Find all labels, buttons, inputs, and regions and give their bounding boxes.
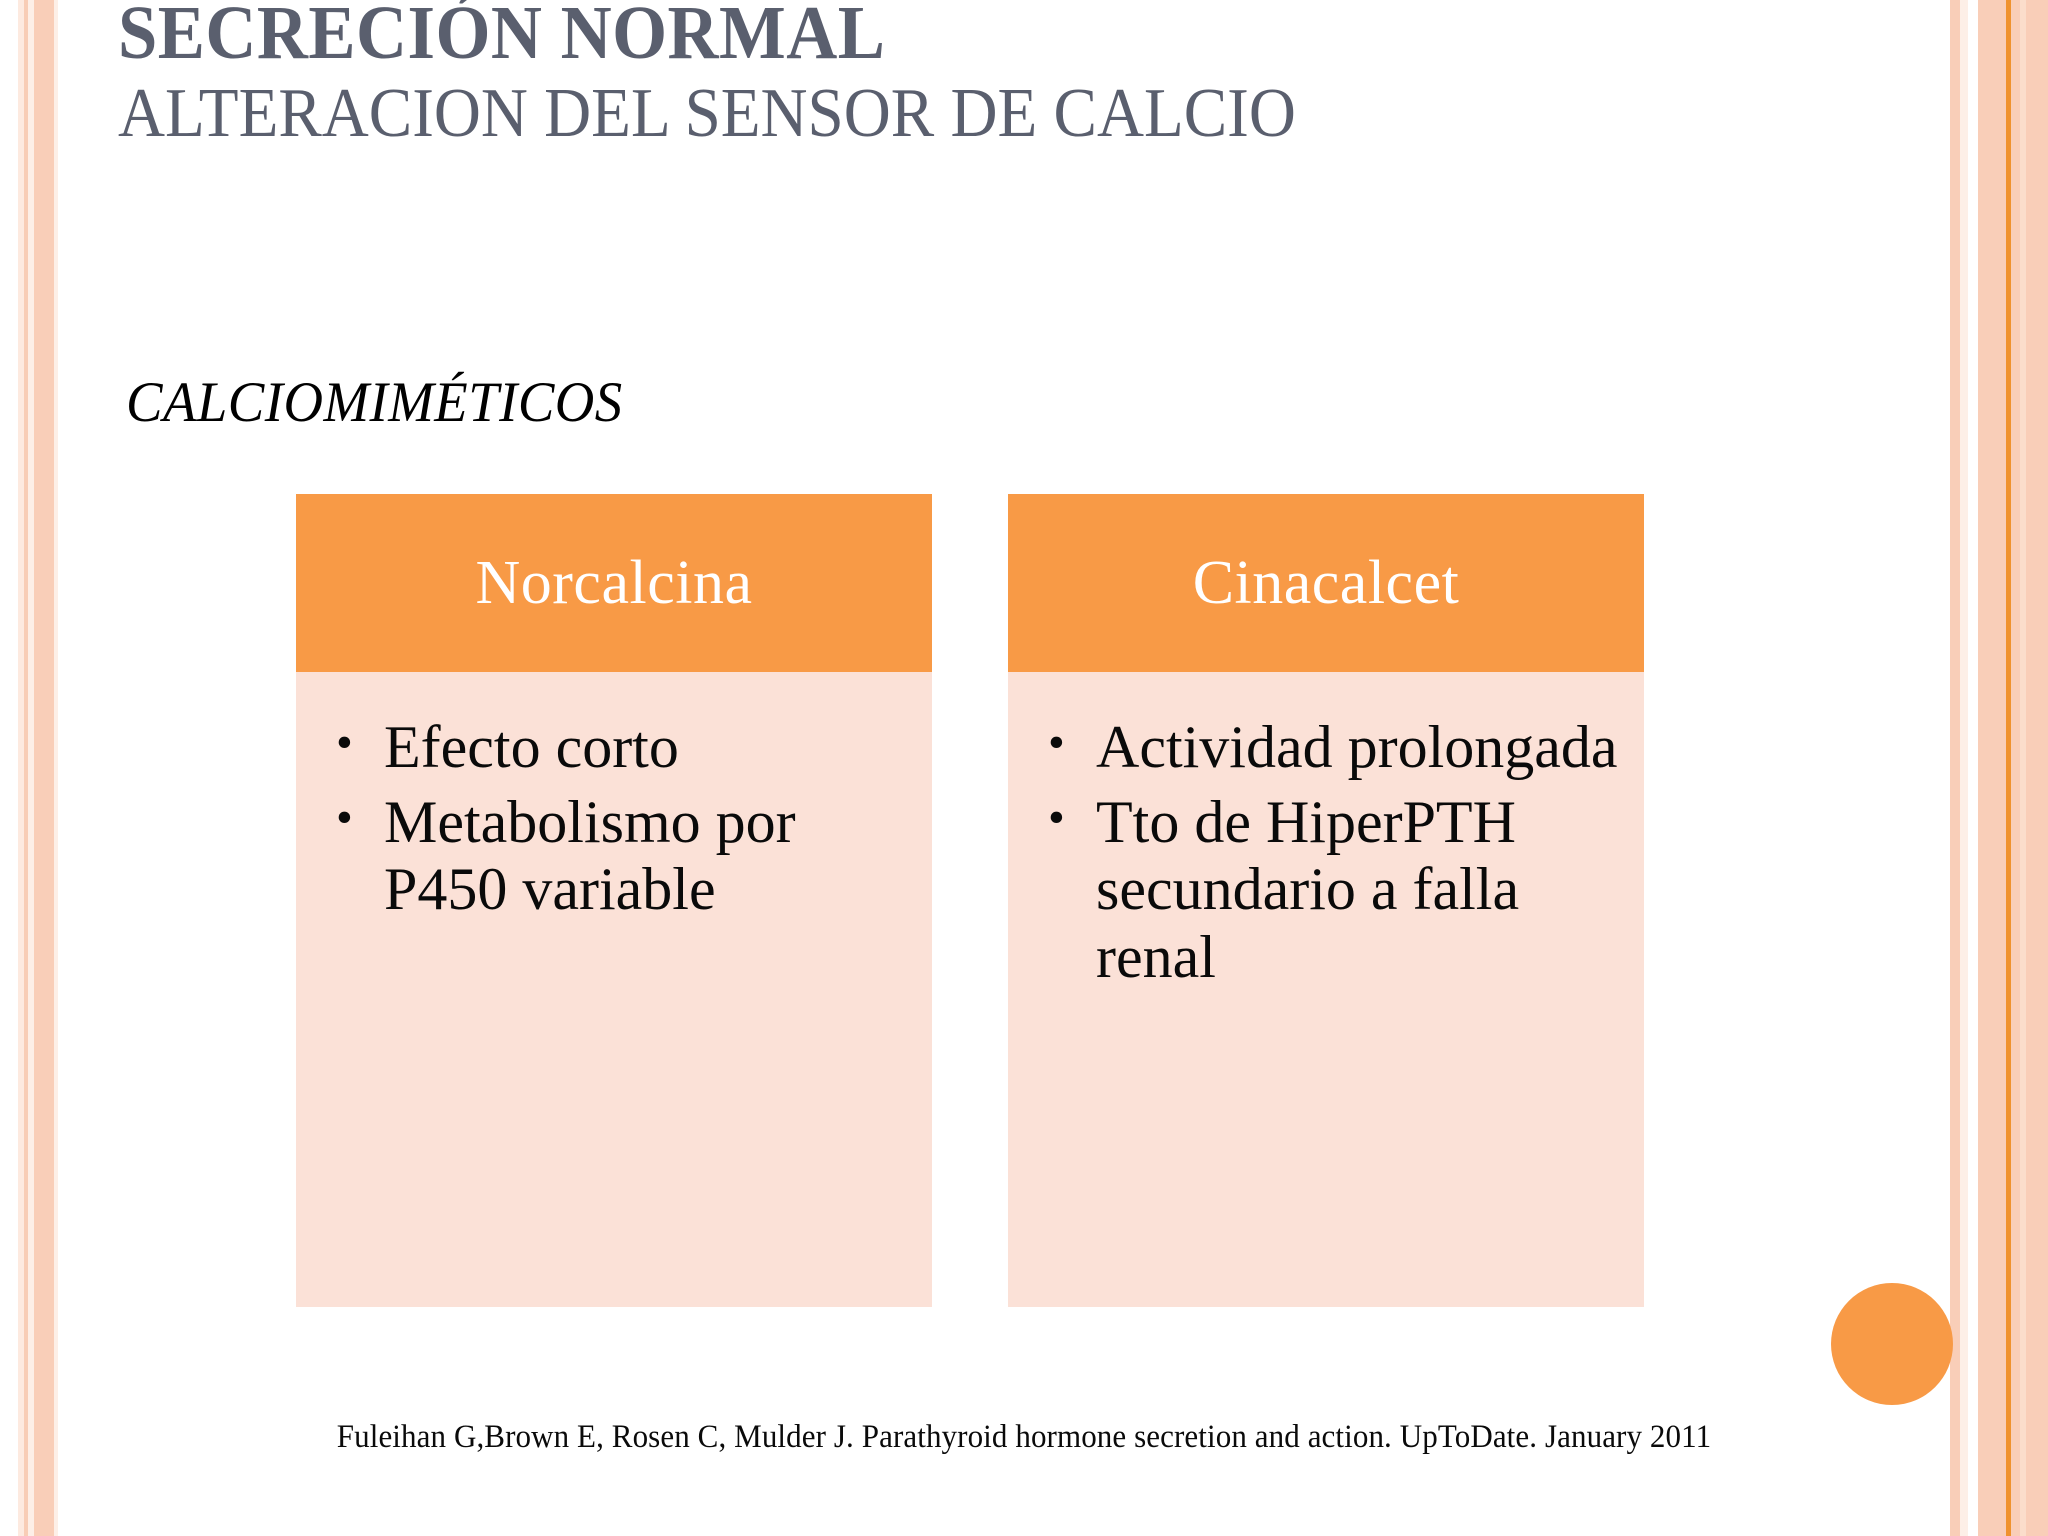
slide-subtitle: CALCIOMIMÉTICOS <box>126 370 623 435</box>
bullet-list-cinacalcet: Actividad prolongada Tto de HiperPTH sec… <box>1042 714 1626 991</box>
comparison-table: Norcalcina Efecto corto Metabolismo por … <box>296 494 1652 1307</box>
column-header-norcalcina: Norcalcina <box>296 494 932 672</box>
citation-text: Fuleihan G,Brown E, Rosen C, Mulder J. P… <box>61 1419 1986 1456</box>
list-item: Efecto corto <box>330 714 914 781</box>
table-column-norcalcina: Norcalcina Efecto corto Metabolismo por … <box>296 494 932 1307</box>
title-secondary: ALTERACION DEL SENSOR DE CALCIO <box>118 74 1569 154</box>
column-body-norcalcina: Efecto corto Metabolismo por P450 variab… <box>296 672 932 1307</box>
table-column-cinacalcet: Cinacalcet Actividad prolongada Tto de H… <box>1008 494 1644 1307</box>
bullet-list-norcalcina: Efecto corto Metabolismo por P450 variab… <box>330 714 914 924</box>
orange-circle-icon <box>1831 1283 1953 1405</box>
list-item: Metabolismo por P450 variable <box>330 789 914 923</box>
slide-title: SECRECIÓN NORMAL ALTERACION DEL SENSOR D… <box>118 0 1678 154</box>
column-header-cinacalcet: Cinacalcet <box>1008 494 1644 672</box>
title-primary: SECRECIÓN NORMAL <box>118 0 1569 74</box>
column-body-cinacalcet: Actividad prolongada Tto de HiperPTH sec… <box>1008 672 1644 1307</box>
list-item: Actividad prolongada <box>1042 714 1626 781</box>
left-border-decoration <box>0 0 60 1536</box>
right-border-decoration <box>1936 0 2048 1536</box>
list-item: Tto de HiperPTH secundario a falla renal <box>1042 789 1626 991</box>
column-header-label: Norcalcina <box>476 552 753 614</box>
slide-canvas: SECRECIÓN NORMAL ALTERACION DEL SENSOR D… <box>0 0 2048 1536</box>
column-header-label: Cinacalcet <box>1193 552 1460 614</box>
